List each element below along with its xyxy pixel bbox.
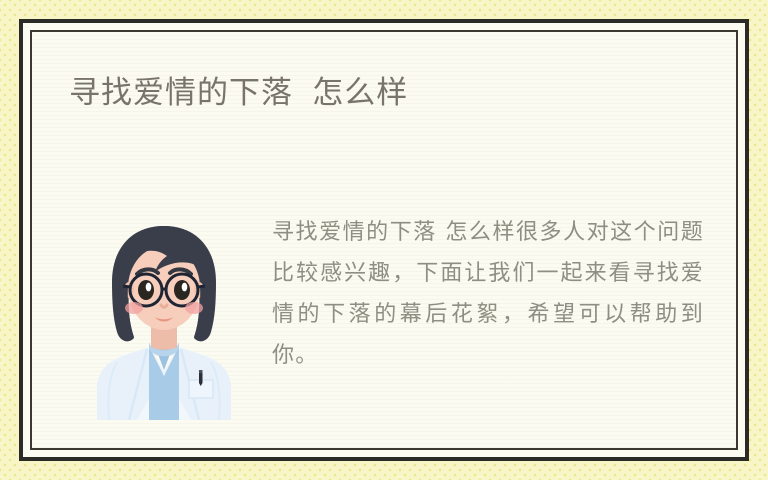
page-title: 寻找爱情的下落 怎么样 bbox=[69, 74, 408, 112]
content-row: 寻找爱情的下落 怎么样很多人对这个问题比较感兴趣，下面让我们一起来看寻找爱情的下… bbox=[32, 192, 736, 422]
card-inner-frame: 寻找爱情的下落 怎么样 bbox=[30, 30, 738, 450]
body-paragraph: 寻找爱情的下落 怎么样很多人对这个问题比较感兴趣，下面让我们一起来看寻找爱情的下… bbox=[272, 212, 704, 376]
pen-icon bbox=[199, 370, 203, 386]
avatar bbox=[89, 220, 239, 420]
page-background: 寻找爱情的下落 怎么样 bbox=[0, 0, 768, 480]
lab-coat bbox=[97, 342, 231, 420]
card-outer-frame: 寻找爱情的下落 怎么样 bbox=[19, 19, 749, 461]
